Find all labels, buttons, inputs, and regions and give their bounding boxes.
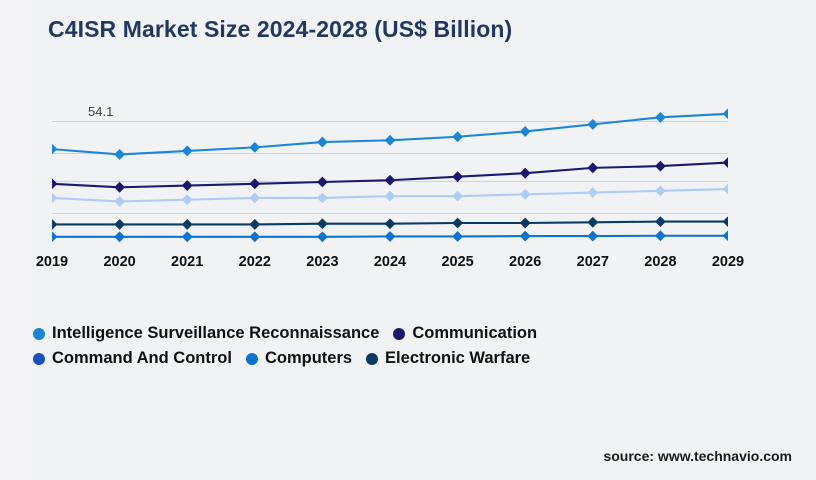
data-point[interactable] (52, 178, 57, 189)
data-point[interactable] (520, 189, 531, 200)
data-point[interactable] (452, 131, 463, 142)
legend-item[interactable]: Command And Control (33, 349, 232, 368)
legend-item-label: Electronic Warfare (385, 349, 530, 368)
plot-area (52, 100, 728, 252)
data-point[interactable] (723, 230, 728, 241)
data-point[interactable] (723, 157, 728, 168)
data-point[interactable] (723, 216, 728, 227)
data-point[interactable] (520, 126, 531, 137)
chart-page: C4ISR Market Size 2024-2028 (US$ Billion… (0, 0, 816, 480)
chart-legend: Intelligence Surveillance Reconnaissance… (33, 322, 783, 372)
data-point[interactable] (385, 218, 396, 229)
series-line (52, 114, 728, 155)
data-point[interactable] (723, 184, 728, 195)
legend-swatch-icon (393, 328, 405, 340)
data-point[interactable] (182, 231, 193, 242)
x-axis-tick-2022: 2022 (239, 254, 271, 270)
data-point[interactable] (452, 231, 463, 242)
x-axis-tick-2027: 2027 (577, 254, 609, 270)
x-axis-tick-2020: 2020 (103, 254, 135, 270)
x-axis-tick-2019: 2019 (36, 254, 68, 270)
data-value-label: 54.1 (88, 104, 113, 119)
legend-item-label: Computers (265, 349, 352, 368)
legend-item[interactable]: Communication (393, 324, 537, 343)
x-axis-tick-2023: 2023 (306, 254, 338, 270)
data-point[interactable] (317, 231, 328, 242)
series-0 (52, 108, 728, 159)
legend-item-label: Command And Control (52, 349, 232, 368)
data-point[interactable] (249, 178, 260, 189)
legend-item[interactable]: Electronic Warfare (366, 349, 530, 368)
data-point[interactable] (655, 216, 666, 227)
data-point[interactable] (249, 193, 260, 204)
legend-item[interactable]: Intelligence Surveillance Reconnaissance (33, 324, 379, 343)
data-point[interactable] (655, 230, 666, 241)
x-axis-tick-2028: 2028 (644, 254, 676, 270)
data-point[interactable] (114, 182, 125, 193)
source-attribution: source: www.technavio.com (603, 448, 792, 464)
data-point[interactable] (317, 137, 328, 148)
data-point[interactable] (520, 231, 531, 242)
x-axis-tick-2026: 2026 (509, 254, 541, 270)
data-point[interactable] (182, 194, 193, 205)
data-point[interactable] (114, 196, 125, 207)
data-point[interactable] (317, 193, 328, 204)
legend-item-label: Intelligence Surveillance Reconnaissance (52, 324, 379, 343)
series-1 (52, 157, 728, 193)
data-point[interactable] (114, 231, 125, 242)
data-point[interactable] (249, 142, 260, 153)
data-point[interactable] (587, 162, 598, 173)
data-point[interactable] (52, 231, 57, 242)
data-point[interactable] (249, 231, 260, 242)
legend-swatch-icon (246, 353, 258, 365)
x-axis-tick-2029: 2029 (712, 254, 744, 270)
data-point[interactable] (520, 218, 531, 229)
legend-row-0: Intelligence Surveillance Reconnaissance… (33, 322, 783, 345)
data-point[interactable] (114, 219, 125, 230)
x-axis-tick-2021: 2021 (171, 254, 203, 270)
data-point[interactable] (385, 231, 396, 242)
data-point[interactable] (655, 161, 666, 172)
data-point[interactable] (520, 168, 531, 179)
line-chart-svg (52, 100, 728, 252)
series-4 (52, 230, 728, 242)
data-point[interactable] (52, 144, 57, 155)
data-point[interactable] (587, 217, 598, 228)
legend-row-1: Command And ControlComputersElectronic W… (33, 347, 783, 370)
data-point[interactable] (587, 119, 598, 130)
legend-item-label: Communication (412, 324, 537, 343)
data-point[interactable] (317, 218, 328, 229)
x-axis-tick-2025: 2025 (441, 254, 473, 270)
data-point[interactable] (452, 171, 463, 182)
left-margin-band (0, 0, 30, 480)
data-point[interactable] (249, 219, 260, 230)
legend-swatch-icon (33, 328, 45, 340)
x-axis-labels: 2019202020212022202320242025202620272028… (52, 254, 728, 276)
data-point[interactable] (52, 219, 57, 230)
data-point[interactable] (385, 175, 396, 186)
data-point[interactable] (182, 219, 193, 230)
data-point[interactable] (723, 108, 728, 119)
data-point[interactable] (587, 231, 598, 242)
x-axis-tick-2024: 2024 (374, 254, 406, 270)
legend-swatch-icon (33, 353, 45, 365)
data-point[interactable] (385, 191, 396, 202)
data-point[interactable] (452, 218, 463, 229)
data-point[interactable] (587, 187, 598, 198)
data-point[interactable] (114, 149, 125, 160)
data-point[interactable] (52, 193, 57, 204)
data-point[interactable] (385, 135, 396, 146)
page-title: C4ISR Market Size 2024-2028 (US$ Billion… (48, 16, 512, 43)
legend-swatch-icon (366, 353, 378, 365)
data-point[interactable] (182, 146, 193, 157)
data-point[interactable] (317, 177, 328, 188)
data-point[interactable] (655, 185, 666, 196)
series-3 (52, 216, 728, 230)
data-point[interactable] (452, 191, 463, 202)
legend-item[interactable]: Computers (246, 349, 352, 368)
